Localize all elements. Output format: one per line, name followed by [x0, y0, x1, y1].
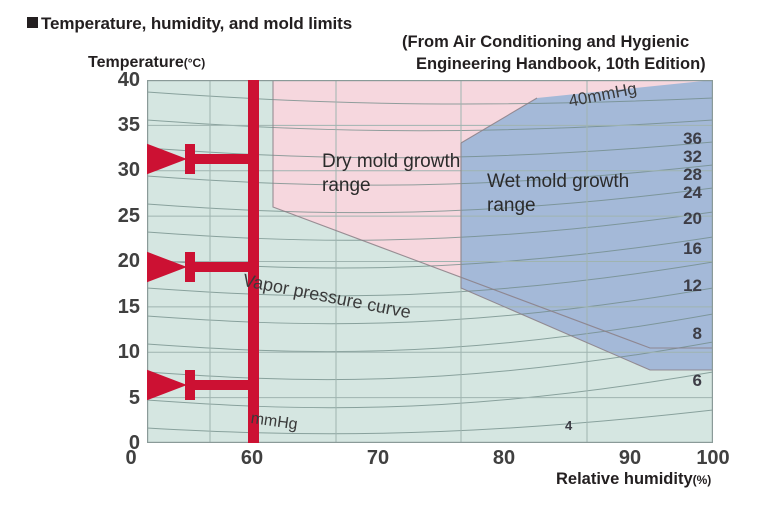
- x-tick-100: 100: [683, 448, 743, 468]
- chart-svg: [147, 80, 713, 443]
- page-title-text: Temperature, humidity, and mold limits: [41, 14, 352, 33]
- right-scale-36: 36: [662, 130, 702, 147]
- y-tick-30: 30: [100, 160, 140, 180]
- bullet-square-icon: [27, 17, 38, 28]
- right-scale-12: 12: [662, 277, 702, 294]
- x-axis-unit: (%): [693, 473, 712, 487]
- label-value-4: 4: [565, 418, 572, 433]
- right-scale-20: 20: [662, 210, 702, 227]
- y-tick-15: 15: [100, 297, 140, 317]
- right-scale-24: 24: [662, 184, 702, 201]
- source-line-2: Engineering Handbook, 10th Edition): [402, 53, 706, 75]
- x-axis-title-text: Relative humidity: [556, 470, 693, 488]
- x-tick-origin: 0: [101, 448, 161, 468]
- right-scale-32: 32: [662, 148, 702, 165]
- right-scale-8: 8: [662, 325, 702, 342]
- page-title: Temperature, humidity, and mold limits: [27, 14, 352, 34]
- source-note: (From Air Conditioning and Hygienic Engi…: [402, 31, 706, 75]
- right-scale-28: 28: [662, 166, 702, 183]
- y-tick-40: 40: [100, 70, 140, 90]
- y-tick-20: 20: [100, 251, 140, 271]
- source-line-1: (From Air Conditioning and Hygienic: [402, 33, 689, 51]
- x-tick-80: 80: [474, 448, 534, 468]
- y-axis-unit: (°C): [184, 56, 205, 70]
- y-tick-10: 10: [100, 342, 140, 362]
- x-tick-60: 60: [222, 448, 282, 468]
- x-tick-70: 70: [348, 448, 408, 468]
- right-scale-6: 6: [662, 372, 702, 389]
- y-tick-5: 5: [100, 388, 140, 408]
- plot-area: Dry mold growth range Wet mold growth ra…: [147, 80, 713, 443]
- x-tick-90: 90: [600, 448, 660, 468]
- x-axis-title: Relative humidity(%): [556, 470, 711, 489]
- y-tick-25: 25: [100, 206, 140, 226]
- chart-page: Temperature, humidity, and mold limits (…: [0, 0, 768, 512]
- label-wet-mold-range: Wet mold growth range: [487, 170, 629, 218]
- right-scale-16: 16: [662, 240, 702, 257]
- y-tick-35: 35: [100, 115, 140, 135]
- label-dry-mold-range: Dry mold growth range: [322, 150, 460, 198]
